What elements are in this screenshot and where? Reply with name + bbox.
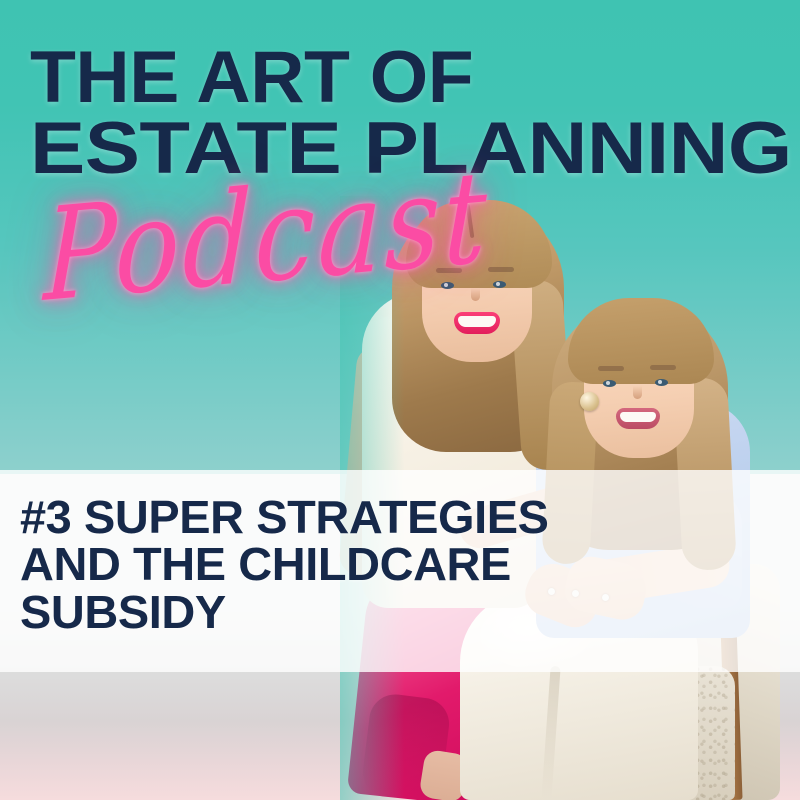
episode-title-line-2: AND THE CHILDCARE	[20, 541, 800, 588]
episode-title: #3 SUPER STRATEGIES AND THE CHILDCARE SU…	[20, 494, 800, 636]
podcast-cover-art: THE ART OF ESTATE PLANNING Podcast #3 SU…	[0, 0, 800, 800]
right-host-teeth	[620, 412, 656, 422]
right-host-eye-highlight	[658, 380, 662, 384]
episode-title-line-3: SUBSIDY	[20, 589, 800, 636]
earring-icon	[580, 392, 599, 411]
left-host-eye-highlight	[496, 282, 500, 286]
left-host-eyebrow	[488, 267, 514, 272]
right-host-eye-highlight	[606, 381, 610, 385]
right-host-nose	[633, 386, 642, 399]
right-host-eyebrow	[650, 365, 676, 370]
right-host-hair-crown	[568, 298, 714, 384]
episode-title-line-1: #3 SUPER STRATEGIES	[20, 494, 800, 541]
right-host-eyebrow	[598, 366, 624, 371]
show-title-line-1: THE ART OF	[30, 46, 792, 110]
left-host-teeth	[458, 316, 496, 327]
